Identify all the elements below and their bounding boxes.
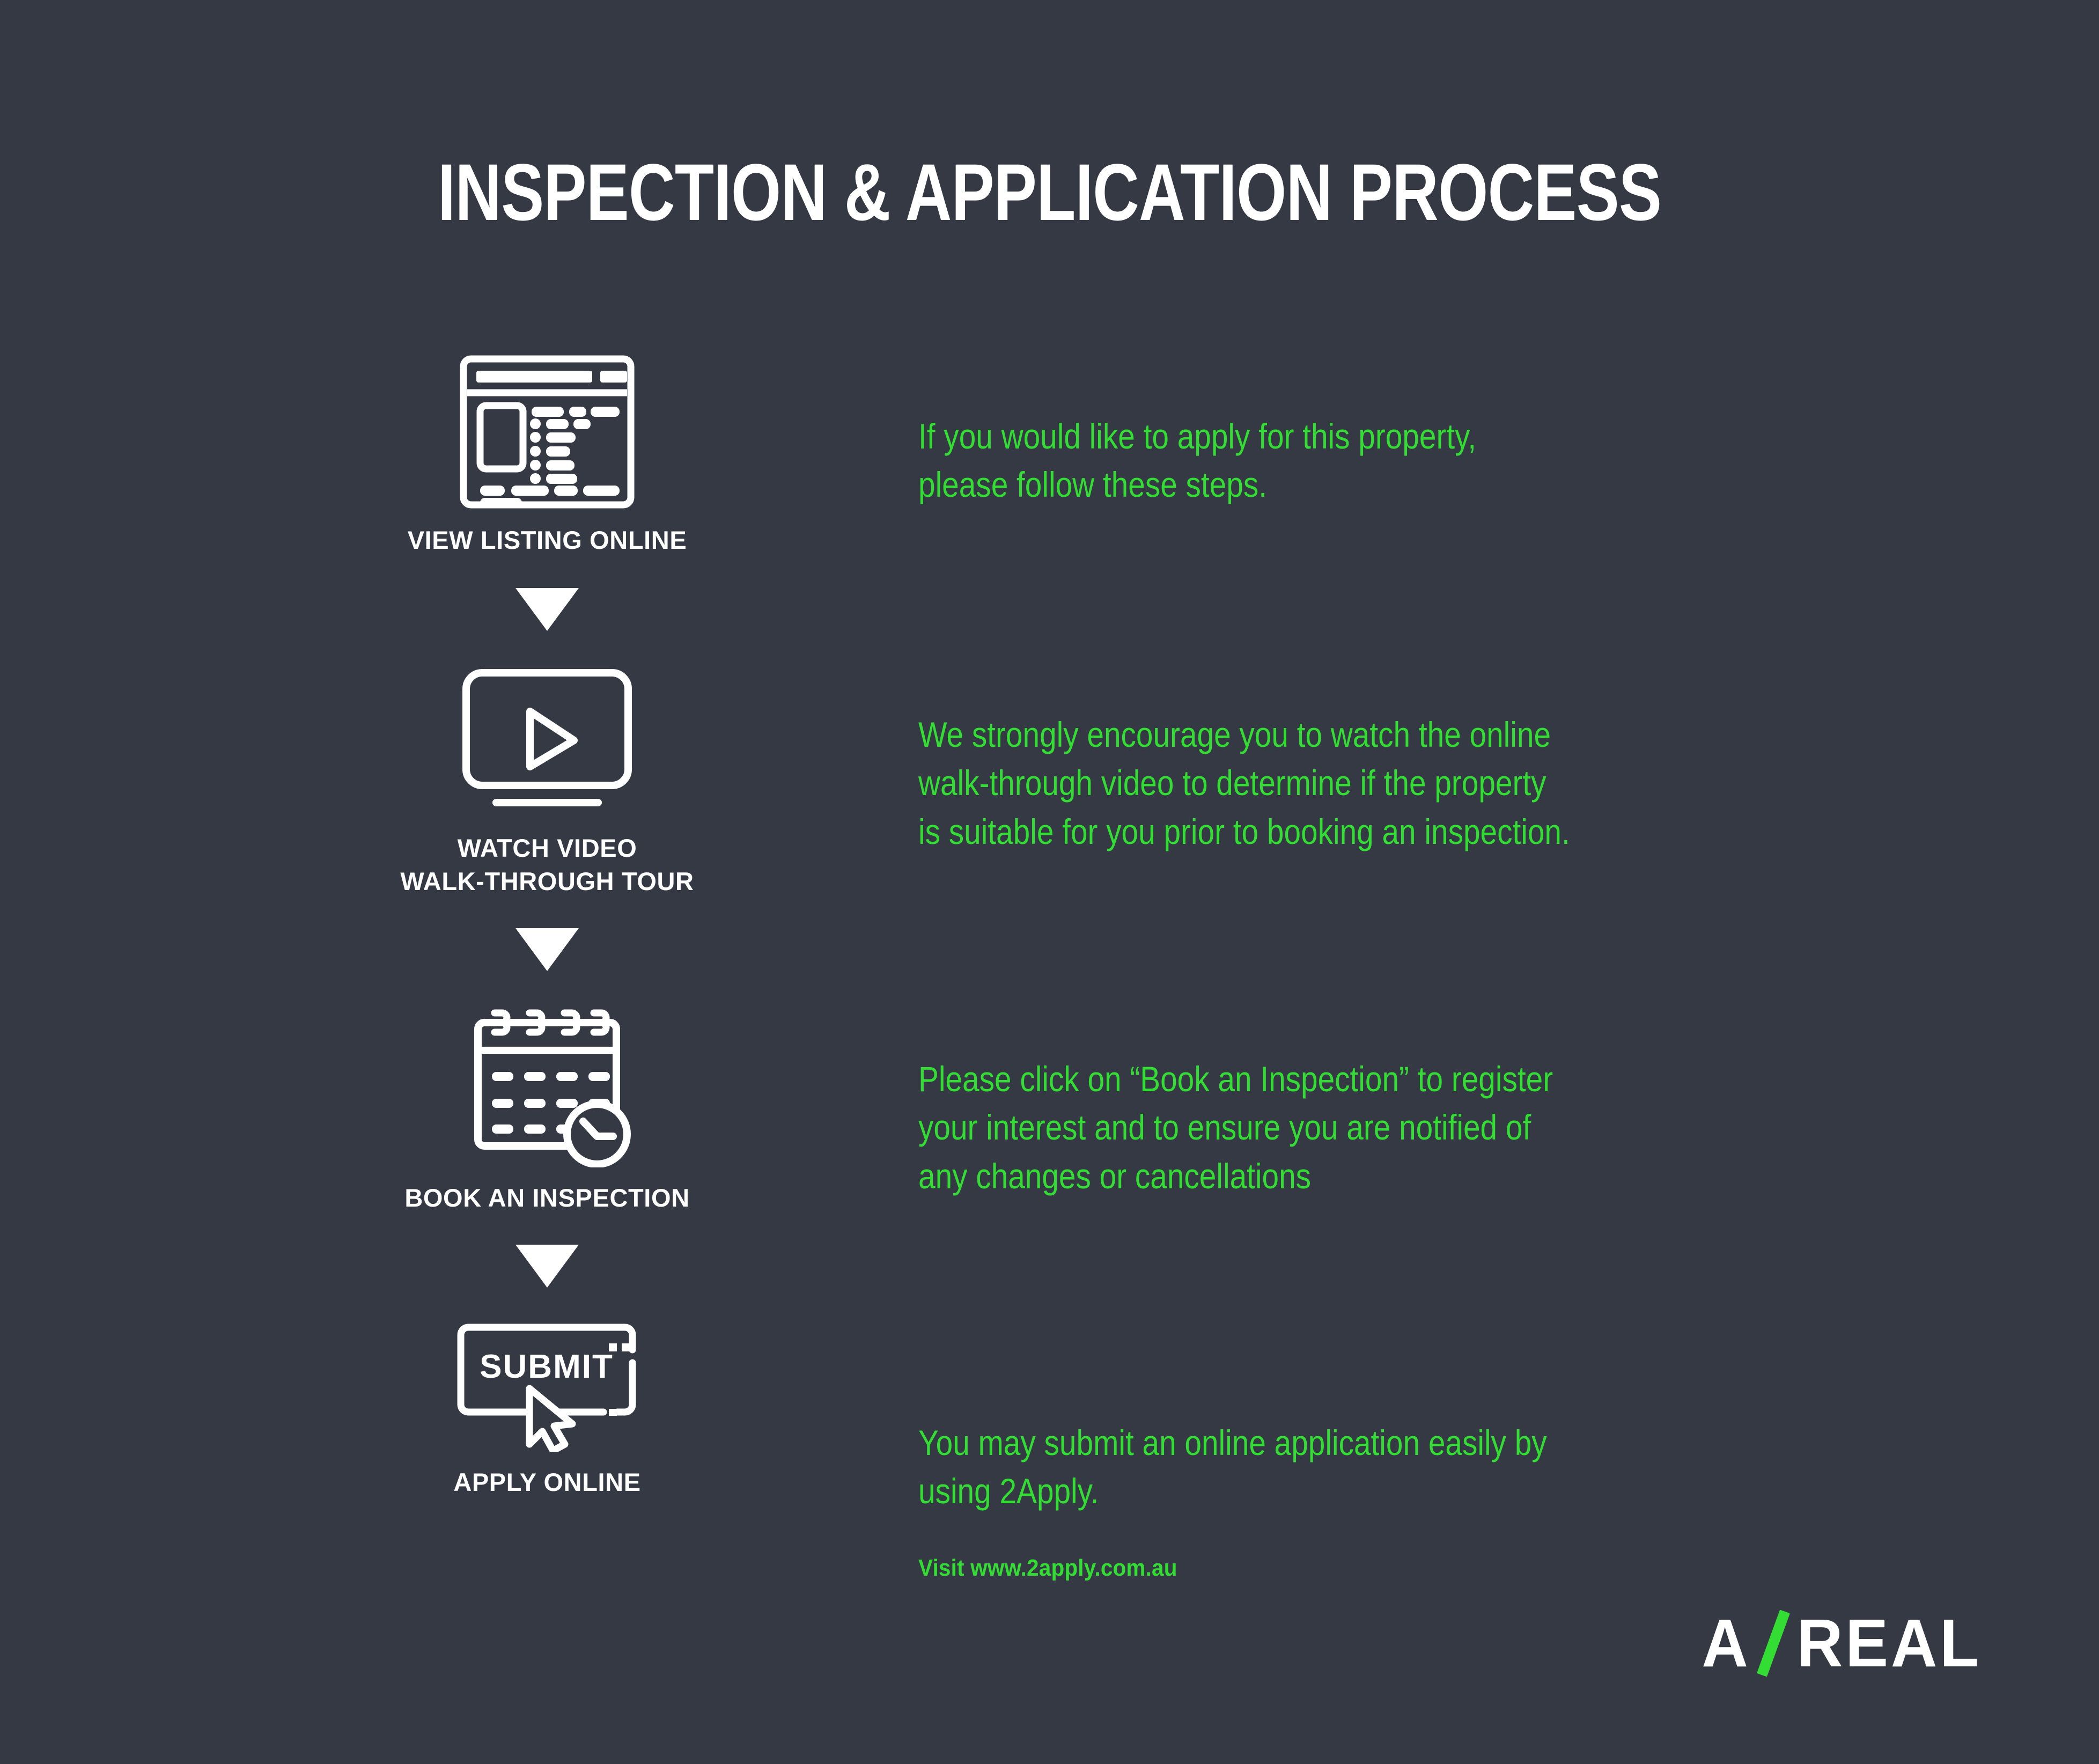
step-copy-view-listing-online: If you would like to apply for this prop…	[918, 412, 1758, 509]
calendar-clock-icon	[333, 1001, 762, 1167]
step-apply-online: SUBMIT APPLY ONLINE	[333, 1318, 762, 1499]
logo-letter-a: A	[1702, 1609, 1750, 1677]
step-label-book-inspection: BOOK AN INSPECTION	[333, 1181, 762, 1215]
step-view-listing-online: VIEW LISTING ONLINE	[333, 354, 762, 557]
step-label-apply-online: APPLY ONLINE	[333, 1466, 762, 1499]
step-watch-video: WATCH VIDEO WALK-THROUGH TOUR	[333, 662, 762, 898]
arrow-down-icon-2	[333, 928, 762, 971]
submit-icon-text: SUBMIT	[480, 1348, 614, 1385]
slash-icon	[1755, 1612, 1788, 1675]
browser-listing-icon	[333, 354, 762, 510]
step-label-watch-video: WATCH VIDEO WALK-THROUGH TOUR	[333, 832, 762, 898]
process-step-list: VIEW LISTING ONLINE WATCH VIDEO WALK-THR…	[333, 354, 762, 1499]
step-copy-watch-video: We strongly encourage you to watch the o…	[918, 710, 1758, 856]
page-title: INSPECTION & APPLICATION PROCESS	[210, 150, 1889, 235]
visit-website-link[interactable]: Visit www.2apply.com.au	[918, 1555, 1177, 1582]
step-copy-apply-online: You may submit an online application eas…	[918, 1418, 1758, 1516]
logo-word-real: REAL	[1796, 1609, 1982, 1677]
arrow-down-icon-3	[333, 1245, 762, 1288]
step-label-view-listing-online: VIEW LISTING ONLINE	[333, 524, 762, 557]
step-copy-book-inspection: Please click on “Book an Inspection” to …	[918, 1055, 1758, 1200]
step-book-inspection: BOOK AN INSPECTION	[333, 1001, 762, 1215]
brand-logo: A REAL	[1700, 1609, 1986, 1677]
arrow-down-icon-1	[333, 588, 762, 631]
infographic-page: INSPECTION & APPLICATION PROCESS	[0, 0, 2099, 1764]
submit-button-cursor-icon: SUBMIT	[333, 1318, 762, 1452]
video-play-screen-icon	[333, 662, 762, 818]
